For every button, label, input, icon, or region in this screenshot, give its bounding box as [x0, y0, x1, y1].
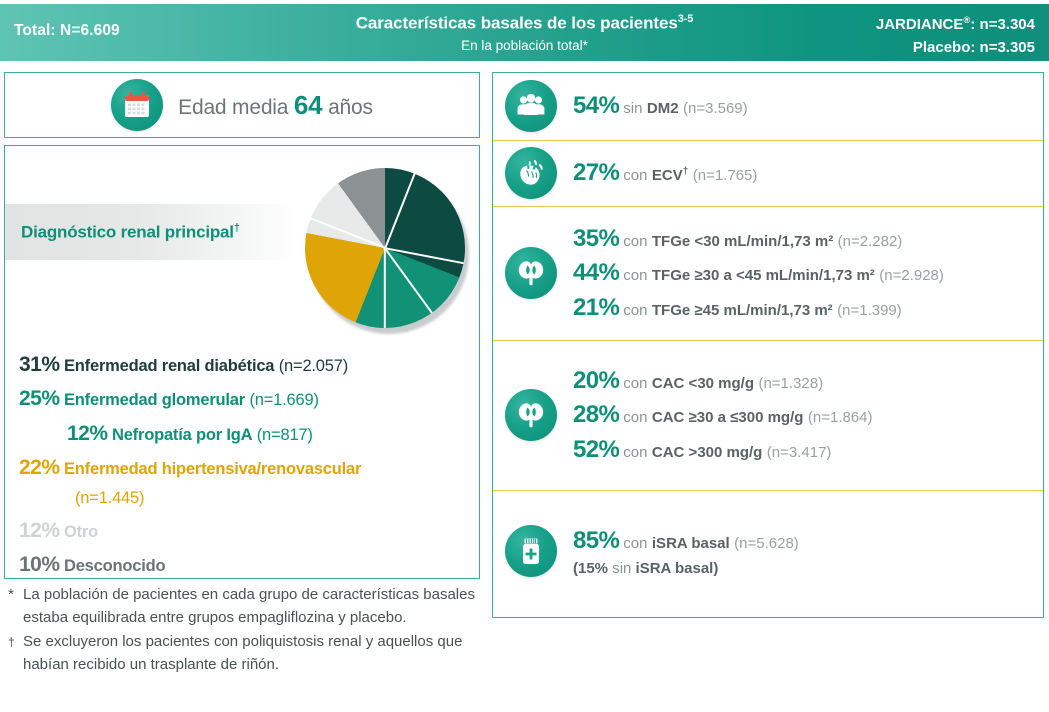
stat-line: 20%con CAC <30 mg/g (n=1.328) [573, 364, 1043, 398]
legend-item: 12% Otro [19, 517, 469, 544]
icon-circle [505, 80, 557, 132]
stat-percent: 27% [573, 159, 619, 186]
legend-count: (n=817) [257, 426, 313, 444]
age-statistic: Edad media 64 años [178, 90, 373, 121]
stat-count: (n=1.864) [808, 409, 873, 426]
stat-preposition: con [623, 444, 647, 461]
header-arms-summary: JARDIANCE®: n=3.304 Placebo: n=3.305 [876, 14, 1035, 59]
stat-subline-text: (15% sin iSRA basal) [573, 560, 718, 577]
infographic-root: Total: N=6.609 Características basales d… [0, 0, 1049, 712]
stat-lines: 85%con iSRA basal (n=5.628)(15% sin iSRA… [573, 524, 1043, 581]
icon-circle [505, 247, 557, 299]
stat-line: 27%con ECV† (n=1.765) [573, 156, 1043, 190]
baseline-stats-card: 54%sin DM2 (n=3.569)27%con ECV† (n=1.765… [492, 72, 1044, 618]
age-prefix: Edad media [178, 96, 288, 119]
stat-row: 27%con ECV† (n=1.765) [493, 141, 1043, 207]
header-arm-jardiance-n: : n=3.304 [970, 16, 1035, 33]
legend-label: Enfermedad renal diabética [64, 357, 274, 375]
icon-circle [505, 147, 557, 199]
diagnosis-band: Diagnóstico renal principal† [5, 204, 295, 260]
stat-preposition: con [623, 535, 647, 552]
calendar-icon [111, 79, 163, 131]
footnote-text: Se excluyeron los pacientes con poliquis… [23, 631, 488, 677]
legend-percent: 12% [67, 422, 108, 445]
stat-row: 54%sin DM2 (n=3.569) [493, 73, 1043, 141]
pie-legend: 31% Enfermedad renal diabética (n=2.057)… [19, 351, 469, 586]
legend-percent: 22% [19, 456, 60, 479]
stat-preposition: con [623, 409, 647, 426]
renal-diagnosis-pie-chart [303, 166, 473, 336]
legend-label: Enfermedad glomerular [64, 391, 245, 409]
stat-percent: 28% [573, 401, 619, 428]
people-group-icon [505, 80, 559, 134]
stat-label: iSRA basal [652, 535, 730, 552]
stat-label: DM2 [647, 100, 679, 117]
stat-percent: 20% [573, 367, 619, 394]
stat-count: (n=1.399) [837, 302, 902, 319]
header-arm-jardiance: JARDIANCE®: n=3.304 [876, 14, 1035, 37]
heart-icon [505, 147, 559, 201]
footnotes: *La población de pacientes en cada grupo… [8, 584, 488, 678]
stat-label: TFGe ≥45 mL/min/1,73 m² [652, 302, 833, 319]
legend-label: Desconocido [64, 557, 165, 575]
footnote: *La población de pacientes en cada grupo… [8, 584, 488, 630]
stat-subline: (15% sin iSRA basal) [573, 558, 1043, 581]
legend-percent: 10% [19, 553, 60, 576]
age-card: Edad media 64 años [4, 72, 480, 138]
diagnosis-band-label: Diagnóstico renal principal† [21, 222, 240, 243]
page-title-text: Características basales de los pacientes [356, 14, 678, 33]
legend-label: Otro [64, 523, 98, 541]
stat-count: (n=3.569) [683, 100, 748, 117]
stat-label: TFGe <30 mL/min/1,73 m² [652, 233, 833, 250]
legend-item: (n=1.445) [19, 488, 469, 510]
footnote-text: La población de pacientes en cada grupo … [23, 584, 488, 630]
legend-item: 12% Nefropatía por IgA (n=817) [19, 420, 469, 447]
stat-line: 85%con iSRA basal (n=5.628) [573, 524, 1043, 558]
stat-count: (n=2.282) [838, 233, 903, 250]
page-header: Total: N=6.609 Características basales d… [0, 4, 1049, 61]
footnote-marker: * [8, 584, 23, 630]
footnote: †Se excluyeron los pacientes con poliqui… [8, 631, 488, 677]
age-value: 64 [294, 90, 323, 120]
header-arm-jardiance-name: JARDIANCE [876, 16, 964, 33]
age-suffix: años [328, 96, 373, 119]
stat-line: 28%con CAC ≥30 a ≤300 mg/g (n=1.864) [573, 398, 1043, 432]
legend-item: 25% Enfermedad glomerular (n=1.669) [19, 385, 469, 412]
stat-percent: 54% [573, 92, 619, 119]
stat-preposition: con [623, 233, 647, 250]
legend-count: (n=1.669) [249, 391, 318, 409]
legend-item: 22% Enfermedad hipertensiva/renovascular [19, 454, 469, 481]
stat-preposition: con [623, 302, 647, 319]
stat-label: TFGe ≥30 a <45 mL/min/1,73 m² [652, 267, 875, 284]
renal-diagnosis-card: Diagnóstico renal principal† 31% Enferme… [4, 145, 480, 579]
stat-percent: 85% [573, 527, 619, 554]
stat-row: 35%con TFGe <30 mL/min/1,73 m² (n=2.282)… [493, 207, 1043, 341]
header-arm-placebo: Placebo: n=3.305 [876, 37, 1035, 60]
diagnosis-band-text: Diagnóstico renal principal [21, 222, 234, 241]
stat-line: 21%con TFGe ≥45 mL/min/1,73 m² (n=1.399) [573, 291, 1043, 325]
legend-label: Enfermedad hipertensiva/renovascular [64, 460, 361, 478]
pill-bottle-icon [505, 525, 559, 579]
pie-slices [305, 168, 465, 328]
stat-percent: 21% [573, 294, 619, 321]
kidneys-icon [505, 247, 559, 301]
stat-label: CAC >300 mg/g [652, 444, 762, 461]
stat-line: 35%con TFGe <30 mL/min/1,73 m² (n=2.282) [573, 222, 1043, 256]
kidneys-icon [505, 389, 559, 443]
page-title-citation: 3-5 [678, 13, 694, 25]
stat-percent: 44% [573, 259, 619, 286]
stat-preposition: sin [623, 100, 642, 117]
legend-percent: 25% [19, 387, 60, 410]
stat-lines: 20%con CAC <30 mg/g (n=1.328)28%con CAC … [573, 364, 1043, 466]
stat-label: CAC <30 mg/g [652, 375, 754, 392]
footnote-marker: † [8, 631, 23, 677]
stat-subline-preposition: sin [612, 560, 631, 577]
dagger-icon: † [234, 222, 240, 234]
stat-percent: 52% [573, 436, 619, 463]
dagger-icon: † [683, 166, 689, 177]
stat-lines: 54%sin DM2 (n=3.569) [573, 89, 1043, 123]
stat-count: (n=3.417) [767, 444, 832, 461]
legend-item: 31% Enfermedad renal diabética (n=2.057) [19, 351, 469, 378]
stat-row: 85%con iSRA basal (n=5.628)(15% sin iSRA… [493, 491, 1043, 613]
stat-percent: 35% [573, 225, 619, 252]
stat-row: 20%con CAC <30 mg/g (n=1.328)28%con CAC … [493, 341, 1043, 491]
stat-lines: 27%con ECV† (n=1.765) [573, 156, 1043, 190]
stat-label: ECV† [652, 167, 688, 184]
stat-count: (n=1.765) [693, 167, 758, 184]
legend-count: (n=2.057) [279, 357, 348, 375]
legend-label: Nefropatía por IgA [112, 426, 252, 444]
stat-preposition: con [623, 167, 647, 184]
legend-percent: 31% [19, 353, 60, 376]
stat-count: (n=2.928) [879, 267, 944, 284]
legend-percent: 12% [19, 519, 60, 542]
stat-count: (n=5.628) [734, 535, 799, 552]
stat-line: 44%con TFGe ≥30 a <45 mL/min/1,73 m² (n=… [573, 256, 1043, 290]
stat-lines: 35%con TFGe <30 mL/min/1,73 m² (n=2.282)… [573, 222, 1043, 324]
legend-item: 10% Desconocido [19, 551, 469, 578]
stat-preposition: con [623, 267, 647, 284]
stat-count: (n=1.328) [758, 375, 823, 392]
stat-line: 54%sin DM2 (n=3.569) [573, 89, 1043, 123]
icon-circle [505, 525, 557, 577]
stat-line: 52%con CAC >300 mg/g (n=3.417) [573, 433, 1043, 467]
legend-count: (n=1.445) [75, 489, 144, 507]
stat-preposition: con [623, 375, 647, 392]
stat-label: CAC ≥30 a ≤300 mg/g [652, 409, 804, 426]
icon-circle [505, 389, 557, 441]
